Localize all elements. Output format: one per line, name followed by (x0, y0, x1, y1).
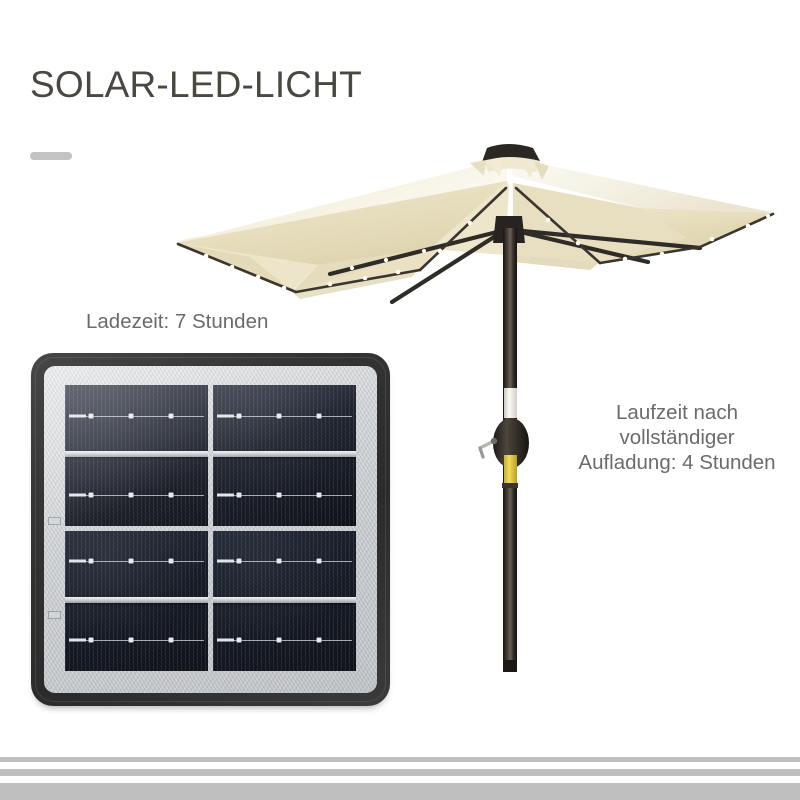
panel-connector-nub (48, 611, 61, 619)
solar-panel (31, 353, 390, 706)
infographic-canvas: SOLAR-LED-LICHT (0, 0, 800, 800)
solar-busbar (65, 451, 208, 457)
parasol-rib-hub (493, 216, 525, 243)
page-title: SOLAR-LED-LICHT (30, 64, 362, 106)
solar-busbar (213, 597, 356, 603)
pole-yellow-band (504, 455, 517, 483)
solar-cell-grid (65, 385, 356, 671)
solar-cell-group (213, 385, 356, 526)
runtime-label-line-2: vollständiger (560, 425, 794, 450)
solar-busbar (213, 451, 356, 457)
solar-cell-group (65, 531, 208, 672)
runtime-label: Laufzeit nach vollständiger Aufladung: 4… (560, 400, 794, 475)
crank-handle (480, 438, 497, 457)
solar-cell-group (213, 531, 356, 672)
footer-bar (0, 769, 800, 776)
pole-upper-band (504, 388, 517, 418)
parasol-hub (482, 144, 540, 162)
panel-connector-nub (48, 517, 61, 525)
solar-cell-group (65, 385, 208, 526)
parasol-pole (503, 300, 517, 672)
runtime-label-line-1: Laufzeit nach (560, 400, 794, 425)
title-accent-bar (30, 152, 72, 160)
parasol-ribs (330, 230, 700, 302)
footer-bar (0, 757, 800, 762)
solar-busbar (65, 597, 208, 603)
runtime-label-line-3: Aufladung: 4 Stunden (560, 450, 794, 475)
charge-time-label: Ladezeit: 7 Stunden (86, 309, 268, 334)
led-lights (204, 214, 770, 290)
footer-bar (0, 783, 800, 800)
crank-housing (493, 418, 529, 468)
